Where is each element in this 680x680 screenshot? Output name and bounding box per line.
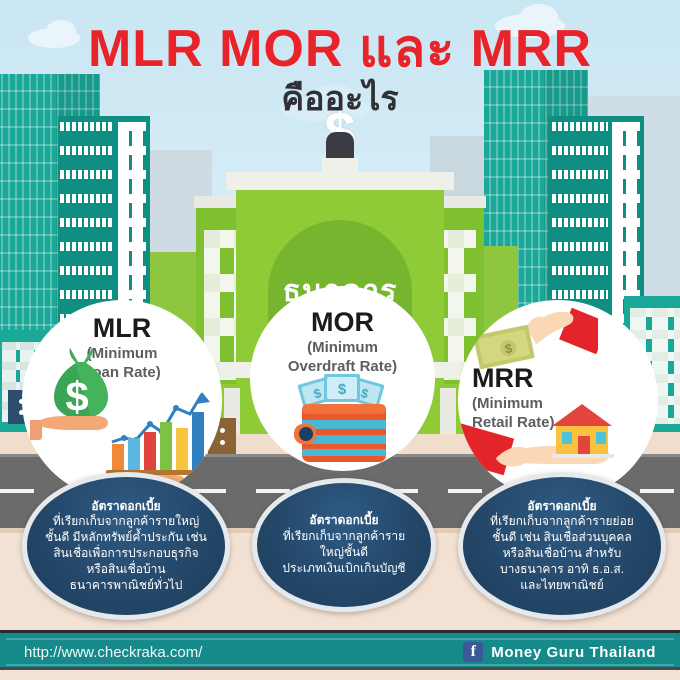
mlr-desc-line: หรือสินเชื่อบ้าน	[45, 562, 207, 578]
page-title: MLR MOR และ MRR	[0, 22, 680, 77]
social-block[interactable]: f Money Guru Thailand	[463, 642, 656, 662]
rate-circle-mor[interactable]: MOR (Minimum Overdraft Rate) $ $ $	[250, 286, 435, 471]
mrr-description: อัตราดอกเบี้ย ที่เรียกเก็บจากลูกค้ารายย่…	[476, 499, 648, 594]
title-block: MLR MOR และ MRR คืออะไร	[0, 22, 680, 118]
mor-abbr: MOR	[250, 308, 435, 336]
footer-bar: http://www.checkraka.com/ f Money Guru T…	[0, 630, 680, 670]
mlr-description: อัตราดอกเบี้ย ที่เรียกเก็บจากลูกค้ารายให…	[31, 499, 221, 594]
mlr-desc-line: ธนาคารพาณิชย์ทั่วไป	[45, 578, 207, 594]
mor-heading: MOR (Minimum Overdraft Rate)	[250, 308, 435, 377]
mlr-desc-line: ที่เรียกเก็บจากลูกค้ารายใหญ่	[45, 514, 207, 530]
mor-expansion-line1: (Minimum	[250, 339, 435, 358]
mor-desc-line: ประเภทเงินเบิกเกินบัญชี	[271, 561, 417, 577]
page-subtitle: คืออะไร	[0, 81, 680, 118]
footer-inner: http://www.checkraka.com/ f Money Guru T…	[6, 638, 674, 666]
svg-text:$: $	[65, 373, 88, 420]
mlr-desc-line: อัตราดอกเบี้ย	[45, 499, 207, 515]
svg-text:$: $	[338, 381, 347, 398]
rate-circle-mlr[interactable]: MLR (Minimum Loan Rate) $	[22, 300, 222, 500]
mlr-desc-line: สินเชื่อเพื่อการประกอบธุรกิจ	[45, 546, 207, 562]
mor-description: อัตราดอกเบี้ย ที่เรียกเก็บจากลูกค้ารายให…	[257, 513, 431, 576]
caption-ellipse-mor: อัตราดอกเบี้ย ที่เรียกเก็บจากลูกค้ารายให…	[252, 478, 436, 612]
bank-cornice	[226, 172, 454, 190]
mlr-desc-line: ชั้นดี มีหลักทรัพย์ค้ำประกัน เช่น	[45, 530, 207, 546]
mrr-desc-line: ชั้นดี เช่น สินเชื่อส่วนบุคคล	[490, 530, 634, 546]
mrr-desc-line: บางธนาคาร อาทิ ธ.อ.ส.	[490, 562, 634, 578]
footer: http://www.checkraka.com/ f Money Guru T…	[0, 620, 680, 680]
mrr-desc-line: และไทยพาณิชย์	[490, 578, 634, 594]
infographic-canvas: $ ธนาคาร M	[0, 0, 680, 680]
rate-circle-mrr[interactable]: MRR (Minimum Retail Rate) $	[458, 300, 658, 500]
mrr-desc-line: อัตราดอกเบี้ย	[490, 499, 634, 515]
mor-desc-line: อัตราดอกเบี้ย	[271, 513, 417, 529]
caption-ellipse-mrr: อัตราดอกเบี้ย ที่เรียกเก็บจากลูกค้ารายย่…	[458, 472, 666, 620]
mrr-desc-line: ที่เรียกเก็บจากลูกค้ารายย่อย	[490, 514, 634, 530]
mor-desc-line: ที่เรียกเก็บจากลูกค้ารายใหญ่ชั้นดี	[271, 529, 417, 561]
mrr-desc-line: หรือสินเชื่อบ้าน สำหรับ	[490, 546, 634, 562]
brand-name: Money Guru Thailand	[491, 644, 656, 661]
wallet-with-banknotes-icon: $ $ $	[288, 372, 398, 471]
caption-ellipse-mlr: อัตราดอกเบี้ย ที่เรียกเก็บจากลูกค้ารายให…	[22, 472, 230, 620]
bank-column	[440, 388, 456, 434]
facebook-icon[interactable]: f	[463, 642, 483, 662]
hand-holding-banknote-icon: $	[468, 304, 598, 396]
website-url[interactable]: http://www.checkraka.com/	[24, 644, 202, 661]
